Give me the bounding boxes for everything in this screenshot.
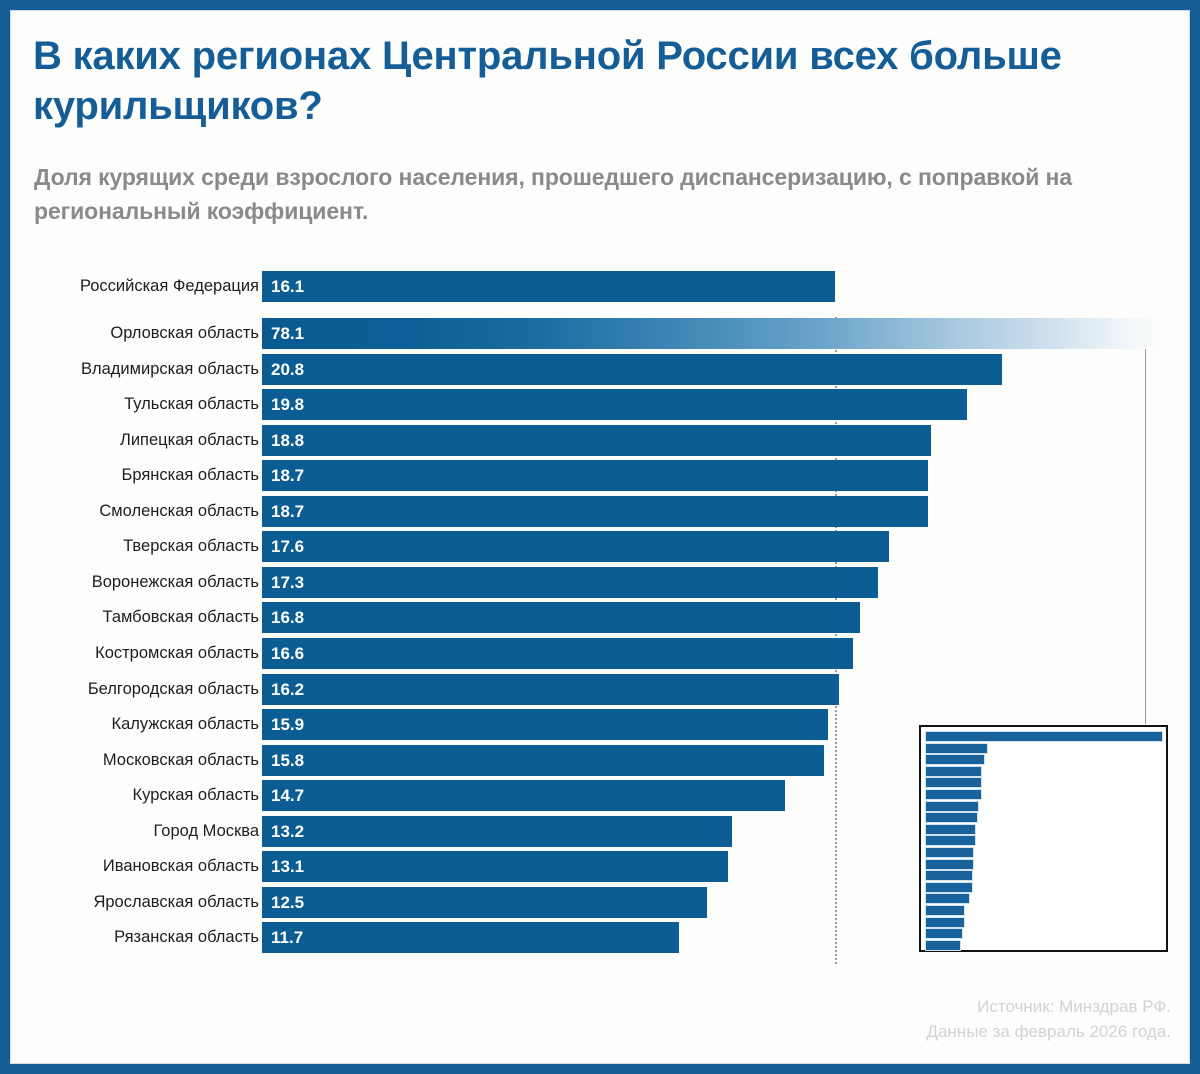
bar-value-label: 16.2 xyxy=(271,679,304,700)
inset-row xyxy=(925,859,1166,871)
chart-row: Смоленская область18.7 xyxy=(11,496,1189,527)
bar-label: Ярославская область xyxy=(11,892,259,913)
chart-row: Липецкая область18.8 xyxy=(11,425,1189,456)
bar-value-label: 16.6 xyxy=(271,643,304,664)
bar-value-label: 16.1 xyxy=(271,276,304,297)
chart-row: Тамбовская область16.8 xyxy=(11,602,1189,633)
inset-true-scale-chart xyxy=(919,725,1168,952)
chart-row-total: Российская Федерация16.1 xyxy=(11,271,1189,302)
inset-bar xyxy=(925,824,976,835)
bar-label: Тверская область xyxy=(11,536,259,557)
inset-row xyxy=(925,824,1166,836)
bar-value-label: 13.1 xyxy=(271,856,304,877)
bar-value-label: 12.5 xyxy=(271,892,304,913)
bar xyxy=(262,922,679,953)
bar-label: Белгородская область xyxy=(11,679,259,700)
bar-value-label: 18.8 xyxy=(271,430,304,451)
inset-row xyxy=(925,789,1166,801)
inset-bar xyxy=(925,812,978,823)
inset-row xyxy=(925,917,1166,929)
bar xyxy=(262,354,1002,385)
bar-label: Город Москва xyxy=(11,821,259,842)
chart-row: Тульская область19.8 xyxy=(11,389,1189,420)
bar-label: Московская область xyxy=(11,750,259,771)
inset-bar xyxy=(925,928,963,939)
inset-bar xyxy=(925,847,974,858)
inset-row xyxy=(925,766,1166,778)
inset-row xyxy=(925,870,1166,882)
bar-value-label: 15.9 xyxy=(271,714,304,735)
inset-bar xyxy=(925,731,1163,742)
bar-value-label: 20.8 xyxy=(271,359,304,380)
bar-label: Калужская область xyxy=(11,714,259,735)
chart-row: Владимирская область20.8 xyxy=(11,354,1189,385)
bar xyxy=(262,816,732,847)
inset-row xyxy=(925,928,1166,940)
bar xyxy=(262,389,967,420)
bar-label: Воронежская область xyxy=(11,572,259,593)
inset-bar xyxy=(925,743,988,754)
chart-row: Тверская область17.6 xyxy=(11,531,1189,562)
bar-label: Брянская область xyxy=(11,465,259,486)
inset-row xyxy=(925,893,1166,905)
inset-row xyxy=(925,754,1166,766)
inset-bar xyxy=(925,905,965,916)
inset-row xyxy=(925,731,1166,743)
inset-row xyxy=(925,847,1166,859)
inset-bar xyxy=(925,870,973,881)
inset-bar xyxy=(925,801,979,812)
bar xyxy=(262,745,824,776)
bar-label: Российская Федерация xyxy=(11,276,259,297)
inset-bars xyxy=(925,731,1166,950)
bar xyxy=(262,567,878,598)
inset-bar xyxy=(925,859,974,870)
bar-truncated xyxy=(262,318,1162,349)
inset-row xyxy=(925,801,1166,813)
inset-bar xyxy=(925,835,976,846)
bar-value-label: 78.1 xyxy=(271,323,304,344)
chart-row: Орловская область78.1 xyxy=(11,318,1189,349)
bar-value-label: 14.7 xyxy=(271,785,304,806)
bar xyxy=(262,887,707,918)
chart-row: Брянская область18.7 xyxy=(11,460,1189,491)
bar-value-label: 13.2 xyxy=(271,821,304,842)
inset-bar xyxy=(925,777,982,788)
bar xyxy=(262,496,928,527)
bar-value-label: 17.3 xyxy=(271,572,304,593)
inset-row xyxy=(925,835,1166,847)
inset-bar xyxy=(925,940,961,951)
bar xyxy=(262,531,889,562)
inset-bar xyxy=(925,917,965,928)
bar-value-label: 16.8 xyxy=(271,607,304,628)
bar-value-label: 11.7 xyxy=(271,927,303,948)
bar-value-label: 17.6 xyxy=(271,536,304,557)
inset-row xyxy=(925,777,1166,789)
bar xyxy=(262,851,728,882)
infographic-poster: В каких регионах Центральной России всех… xyxy=(0,0,1200,1074)
bar-label: Липецкая область xyxy=(11,430,259,451)
source-note: Источник: Минздрав РФ. Данные за февраль… xyxy=(841,994,1171,1044)
bar-value-label: 19.8 xyxy=(271,394,304,415)
bar-label: Владимирская область xyxy=(11,359,259,380)
inset-bar xyxy=(925,789,982,800)
bar xyxy=(262,709,828,740)
inset-row xyxy=(925,905,1166,917)
bar xyxy=(262,602,860,633)
inset-row xyxy=(925,743,1166,755)
bar-value-label: 18.7 xyxy=(271,501,304,522)
bar-label: Тамбовская область xyxy=(11,607,259,628)
inset-bar xyxy=(925,754,985,765)
inset-bar xyxy=(925,893,970,904)
inset-bar xyxy=(925,766,982,777)
bar xyxy=(262,271,835,302)
inset-bar xyxy=(925,882,973,893)
bar-label: Рязанская область xyxy=(11,927,259,948)
chart-row: Воронежская область17.3 xyxy=(11,567,1189,598)
chart-row: Костромская область16.6 xyxy=(11,638,1189,669)
bar-label: Курская область xyxy=(11,785,259,806)
inset-row xyxy=(925,812,1166,824)
bar-label: Смоленская область xyxy=(11,501,259,522)
inset-row xyxy=(925,882,1166,894)
bar-label: Орловская область xyxy=(11,323,259,344)
bar xyxy=(262,674,839,705)
bar-value-label: 15.8 xyxy=(271,750,304,771)
bar xyxy=(262,460,928,491)
inset-row xyxy=(925,940,1166,952)
bar-value-label: 18.7 xyxy=(271,465,304,486)
bar xyxy=(262,638,853,669)
bar-label: Ивановская область xyxy=(11,856,259,877)
chart-row: Белгородская область16.2 xyxy=(11,674,1189,705)
bar-label: Тульская область xyxy=(11,394,259,415)
bar-label: Костромская область xyxy=(11,643,259,664)
bar xyxy=(262,425,931,456)
poster-canvas: В каких регионах Центральной России всех… xyxy=(11,11,1189,1063)
bar xyxy=(262,780,785,811)
